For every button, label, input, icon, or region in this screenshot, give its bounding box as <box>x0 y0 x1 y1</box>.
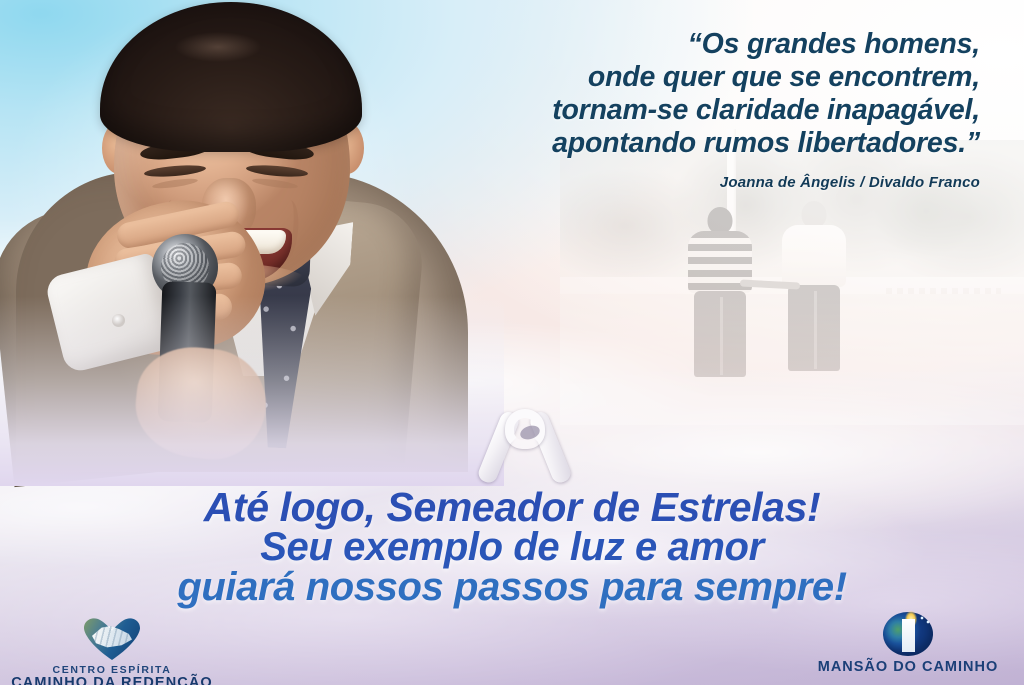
quote-line-3: tornam-se claridade inapagável, <box>420 94 980 127</box>
heart-hands-icon <box>84 618 140 660</box>
logo-right-line-1: MANSÃO DO CAMINHO <box>798 661 1018 674</box>
headline-line-1: Até logo, Semeador de Estrelas! <box>0 487 1024 527</box>
human-figure <box>902 619 915 652</box>
logo-centro-espirita-caminho-da-redencao: CENTRO ESPÍRITA CAMINHO DA REDENÇÃO <box>6 618 218 685</box>
quote-line-4: apontando rumos libertadores.” <box>420 127 980 160</box>
quote-attribution: Joanna de Ângelis / Divaldo Franco <box>420 174 980 191</box>
logo-mansao-do-caminho: MANSÃO DO CAMINHO <box>798 612 1018 674</box>
headline-block: Até logo, Semeador de Estrelas! Seu exem… <box>0 487 1024 607</box>
quote-line-1: “Os grandes homens, <box>420 28 980 61</box>
headline-line-2: Seu exemplo de luz e amor <box>0 527 1024 567</box>
headline-line-3: guiará nossos passos para sempre! <box>0 567 1024 607</box>
globe-figure-icon <box>883 612 933 656</box>
quote-line-2: onde quer que se encontrem, <box>420 61 980 94</box>
logo-left-line-2: CAMINHO DA REDENÇÃO <box>6 677 218 685</box>
sparkle-dots <box>920 616 930 626</box>
portrait-bottom-fade <box>0 296 504 486</box>
memorial-poster: “Os grandes homens, onde quer que se enc… <box>0 0 1024 685</box>
ribbon-loop <box>505 409 545 449</box>
quote-block: “Os grandes homens, onde quer que se enc… <box>420 28 980 191</box>
white-mourning-ribbon-icon <box>489 409 561 487</box>
